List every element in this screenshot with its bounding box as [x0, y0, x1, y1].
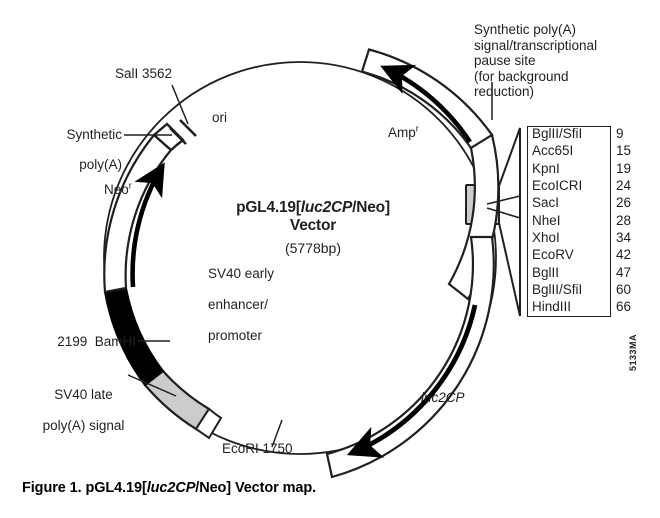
- sali-site-label: SalI 3562: [115, 66, 172, 81]
- mcs-enzyme-name: NheI: [532, 213, 604, 228]
- mcs-enzyme-name: BglII: [532, 265, 604, 280]
- sv40-late-line1: SV40 late: [54, 387, 113, 402]
- mcs-row: XhoI34: [532, 230, 650, 247]
- mcs-enzyme-name: BglII/SfiI: [532, 282, 604, 297]
- mcs-enzyme-position: 34: [604, 230, 631, 245]
- mcs-row: BglII/SfiI9: [532, 126, 650, 143]
- sali-leader-line: [172, 85, 188, 124]
- synthetic-polya-left-label: Synthetic poly(A): [0, 112, 122, 187]
- mcs-row: BglII/SfiI60: [532, 282, 650, 299]
- ori-label: ori: [212, 110, 227, 125]
- ampr-cassette: [362, 50, 492, 149]
- mcs-row: BglII47: [532, 265, 650, 282]
- mcs-row: SacI26: [532, 195, 650, 212]
- caption-prefix: Figure 1. pGL4.19[: [22, 480, 147, 496]
- figure-caption: Figure 1. pGL4.19[luc2CP/Neo] Vector map…: [22, 480, 316, 496]
- synthetic-polya-left-line1: Synthetic: [66, 127, 122, 142]
- sv40-early-line2: enhancer/: [208, 297, 268, 312]
- mcs-enzyme-position: 60: [604, 282, 631, 297]
- ecori-site-label: EcoRI 1750: [222, 441, 293, 456]
- neor-label-sup: r: [129, 181, 132, 191]
- mcs-row: NheI28: [532, 213, 650, 230]
- mcs-row: HindIII66: [532, 299, 650, 316]
- mcs-enzyme-position: 42: [604, 247, 631, 262]
- sv40-late-polya-label: SV40 late poly(A) signal: [24, 371, 128, 449]
- plasmid-name-suffix: /Neo]: [352, 199, 390, 216]
- sv40-late-line2: poly(A) signal: [43, 418, 125, 433]
- synthetic-polya-right-label: Synthetic poly(A) signal/transcriptional…: [474, 22, 604, 100]
- sv40-early-promoter-label: SV40 early enhancer/ promoter: [193, 250, 274, 359]
- mcs-enzyme-name: EcoRV: [532, 247, 604, 262]
- plasmid-name-italic: luc2CP: [301, 199, 352, 216]
- ampr-label: Ampr: [388, 125, 419, 140]
- mcs-enzyme-name: BglII/SfiI: [532, 126, 604, 141]
- mcs-enzyme-name: KpnI: [532, 161, 604, 176]
- mcs-bracket: [499, 128, 520, 316]
- mcs-row: KpnI19: [532, 161, 650, 178]
- plasmid-name-prefix: pGL4.19[: [236, 199, 301, 216]
- bamhi-site-label: 2199 BamHI: [0, 334, 136, 349]
- mcs-enzyme-name: SacI: [532, 195, 604, 210]
- mcs-enzyme-position: 26: [604, 195, 631, 210]
- sv40-early-line3: promoter: [208, 328, 262, 343]
- artwork-code-label: 5133MA: [628, 334, 638, 371]
- mcs-enzyme-position: 28: [604, 213, 631, 228]
- plasmid-center-title: pGL4.19[luc2CP/Neo] Vector: [218, 199, 408, 235]
- luc2cp-label: luc2CP: [421, 390, 465, 405]
- caption-suffix: /Neo] Vector map.: [195, 480, 316, 496]
- sv40-late-polya-block: [145, 371, 209, 429]
- mcs-row: EcoICRI24: [532, 178, 650, 195]
- mcs-enzyme-position: 24: [604, 178, 631, 193]
- neor-label: Neor: [104, 182, 132, 197]
- mcs-enzyme-position: 9: [604, 126, 624, 141]
- neor-label-text: Neo: [104, 182, 129, 197]
- mcs-enzyme-name: HindIII: [532, 299, 604, 314]
- sv40-early-line1: SV40 early: [208, 266, 274, 281]
- caption-italic: luc2CP: [147, 480, 196, 496]
- mcs-row: Acc65I15: [532, 143, 650, 160]
- mcs-enzyme-name: Acc65I: [532, 143, 604, 158]
- figure-container: pGL4.19[luc2CP/Neo] Vector (5778bp) Synt…: [0, 0, 660, 518]
- mcs-table-rows: BglII/SfiI9Acc65I15KpnI19EcoICRI24SacI26…: [532, 126, 650, 317]
- mcs-enzyme-name: EcoICRI: [532, 178, 604, 193]
- synthetic-polya-left-line2: poly(A): [79, 157, 122, 172]
- ampr-label-sup: r: [416, 124, 419, 134]
- mcs-enzyme-position: 47: [604, 265, 631, 280]
- mcs-enzyme-position: 15: [604, 143, 631, 158]
- mcs-enzyme-position: 19: [604, 161, 631, 176]
- mcs-row: EcoRV42: [532, 247, 650, 264]
- mcs-enzyme-name: XhoI: [532, 230, 604, 245]
- plasmid-name-line2: Vector: [290, 217, 336, 234]
- ampr-label-text: Amp: [388, 125, 416, 140]
- mcs-enzyme-position: 66: [604, 299, 631, 314]
